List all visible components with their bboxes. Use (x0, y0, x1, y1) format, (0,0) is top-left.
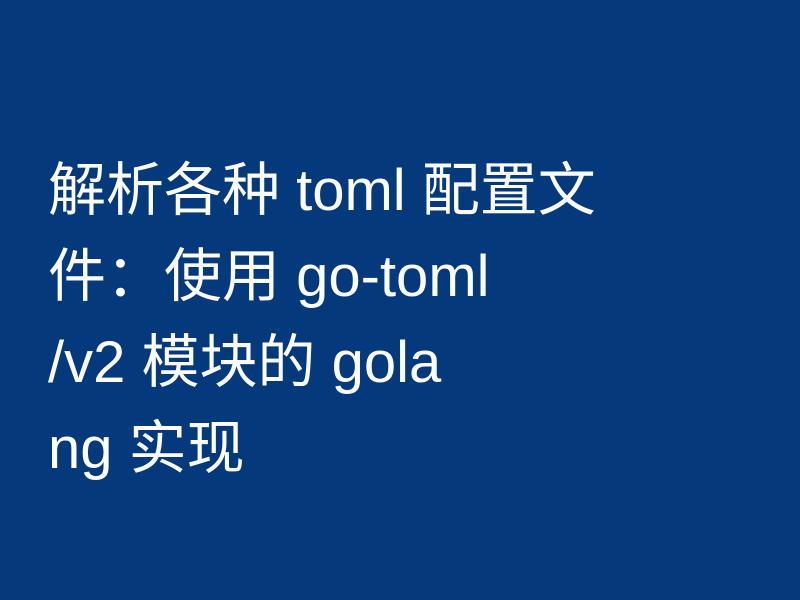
page-title: 解析各种 toml 配置文 件：使用 go-toml /v2 模块的 gola … (48, 148, 668, 492)
title-line-3: /v2 模块的 gola (48, 320, 668, 406)
title-line-1: 解析各种 toml 配置文 (48, 148, 668, 234)
title-line-2: 件：使用 go-toml (48, 234, 668, 320)
title-line-4: ng 实现 (48, 406, 668, 492)
title-card: 解析各种 toml 配置文 件：使用 go-toml /v2 模块的 gola … (0, 0, 800, 600)
